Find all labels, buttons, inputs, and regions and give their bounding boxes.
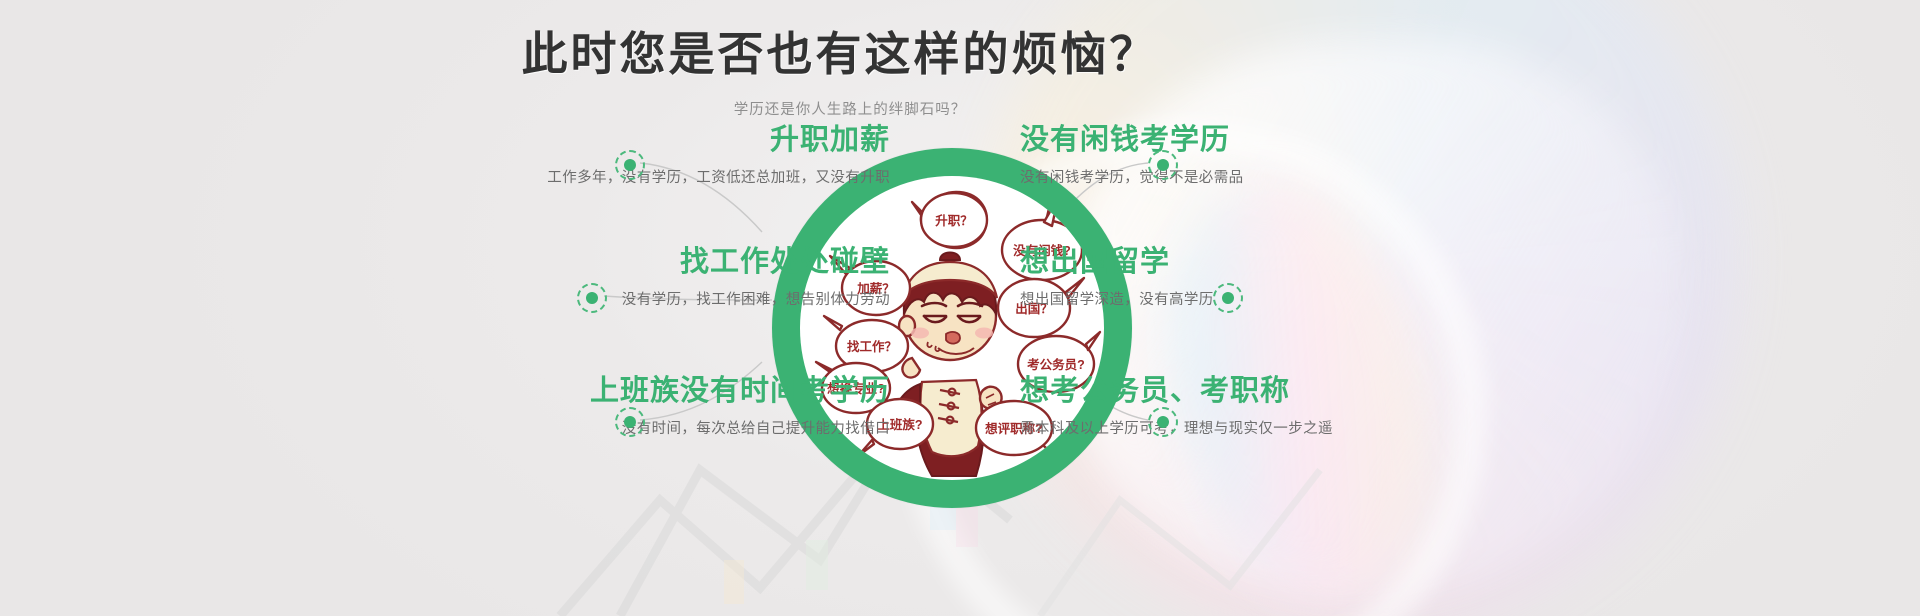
right-item-1-desc: 没有闲钱考学历，觉得不是必需品 xyxy=(1020,166,1660,187)
dotted-circle-icon-left-1 xyxy=(615,150,645,180)
right-items-column: 没有闲钱考学历 没有闲钱考学历，觉得不是必需品 想出国留学 想出国留学深造，没有… xyxy=(1020,0,1660,616)
banner-stage: 此时您是否也有这样的烦恼？ 学历还是你人生路上的绊脚石吗？ .bl{fill:#… xyxy=(0,0,1920,616)
left-item-2-title: 找工作处处碰壁 xyxy=(250,246,890,279)
dotted-circle-icon-right-3 xyxy=(1148,407,1178,437)
left-item-1[interactable]: 升职加薪 工作多年，没有学历，工资低还总加班，又没有升职 xyxy=(250,124,890,187)
dotted-circle-icon-right-1 xyxy=(1148,150,1178,180)
left-item-1-title: 升职加薪 xyxy=(250,124,890,157)
right-item-2-desc: 想出国留学深造，没有高学历 xyxy=(1020,288,1660,309)
left-item-2-desc: 没有学历，找工作困难，想告别体力劳动 xyxy=(250,288,890,309)
right-item-2-title: 想出国留学 xyxy=(1020,246,1660,279)
left-item-2[interactable]: 找工作处处碰壁 没有学历，找工作困难，想告别体力劳动 xyxy=(250,246,890,309)
right-item-3-desc: 需本科及以上学历可考，理想与现实仅一步之遥 xyxy=(1020,417,1660,438)
right-item-3[interactable]: 想考公务员、考职称 需本科及以上学历可考，理想与现实仅一步之遥 xyxy=(1020,375,1660,438)
left-items-column: 升职加薪 工作多年，没有学历，工资低还总加班，又没有升职 找工作处处碰壁 没有学… xyxy=(250,0,890,616)
right-item-2[interactable]: 想出国留学 想出国留学深造，没有高学历 xyxy=(1020,246,1660,309)
right-item-1-title: 没有闲钱考学历 xyxy=(1020,124,1660,157)
left-item-3[interactable]: 上班族没有时间考学历 没有时间，每次总给自己提升能力找借口 xyxy=(250,375,890,438)
dotted-circle-icon-right-2 xyxy=(1213,283,1243,313)
left-item-1-desc: 工作多年，没有学历，工资低还总加班，又没有升职 xyxy=(250,166,890,187)
left-item-3-desc: 没有时间，每次总给自己提升能力找借口 xyxy=(250,417,890,438)
right-item-3-title: 想考公务员、考职称 xyxy=(1020,375,1660,408)
dotted-circle-icon-left-3 xyxy=(615,407,645,437)
left-item-3-title: 上班族没有时间考学历 xyxy=(250,375,890,408)
right-item-1[interactable]: 没有闲钱考学历 没有闲钱考学历，觉得不是必需品 xyxy=(1020,124,1660,187)
bubble-text-1: 升职？ xyxy=(935,213,973,228)
dotted-circle-icon-left-2 xyxy=(577,283,607,313)
